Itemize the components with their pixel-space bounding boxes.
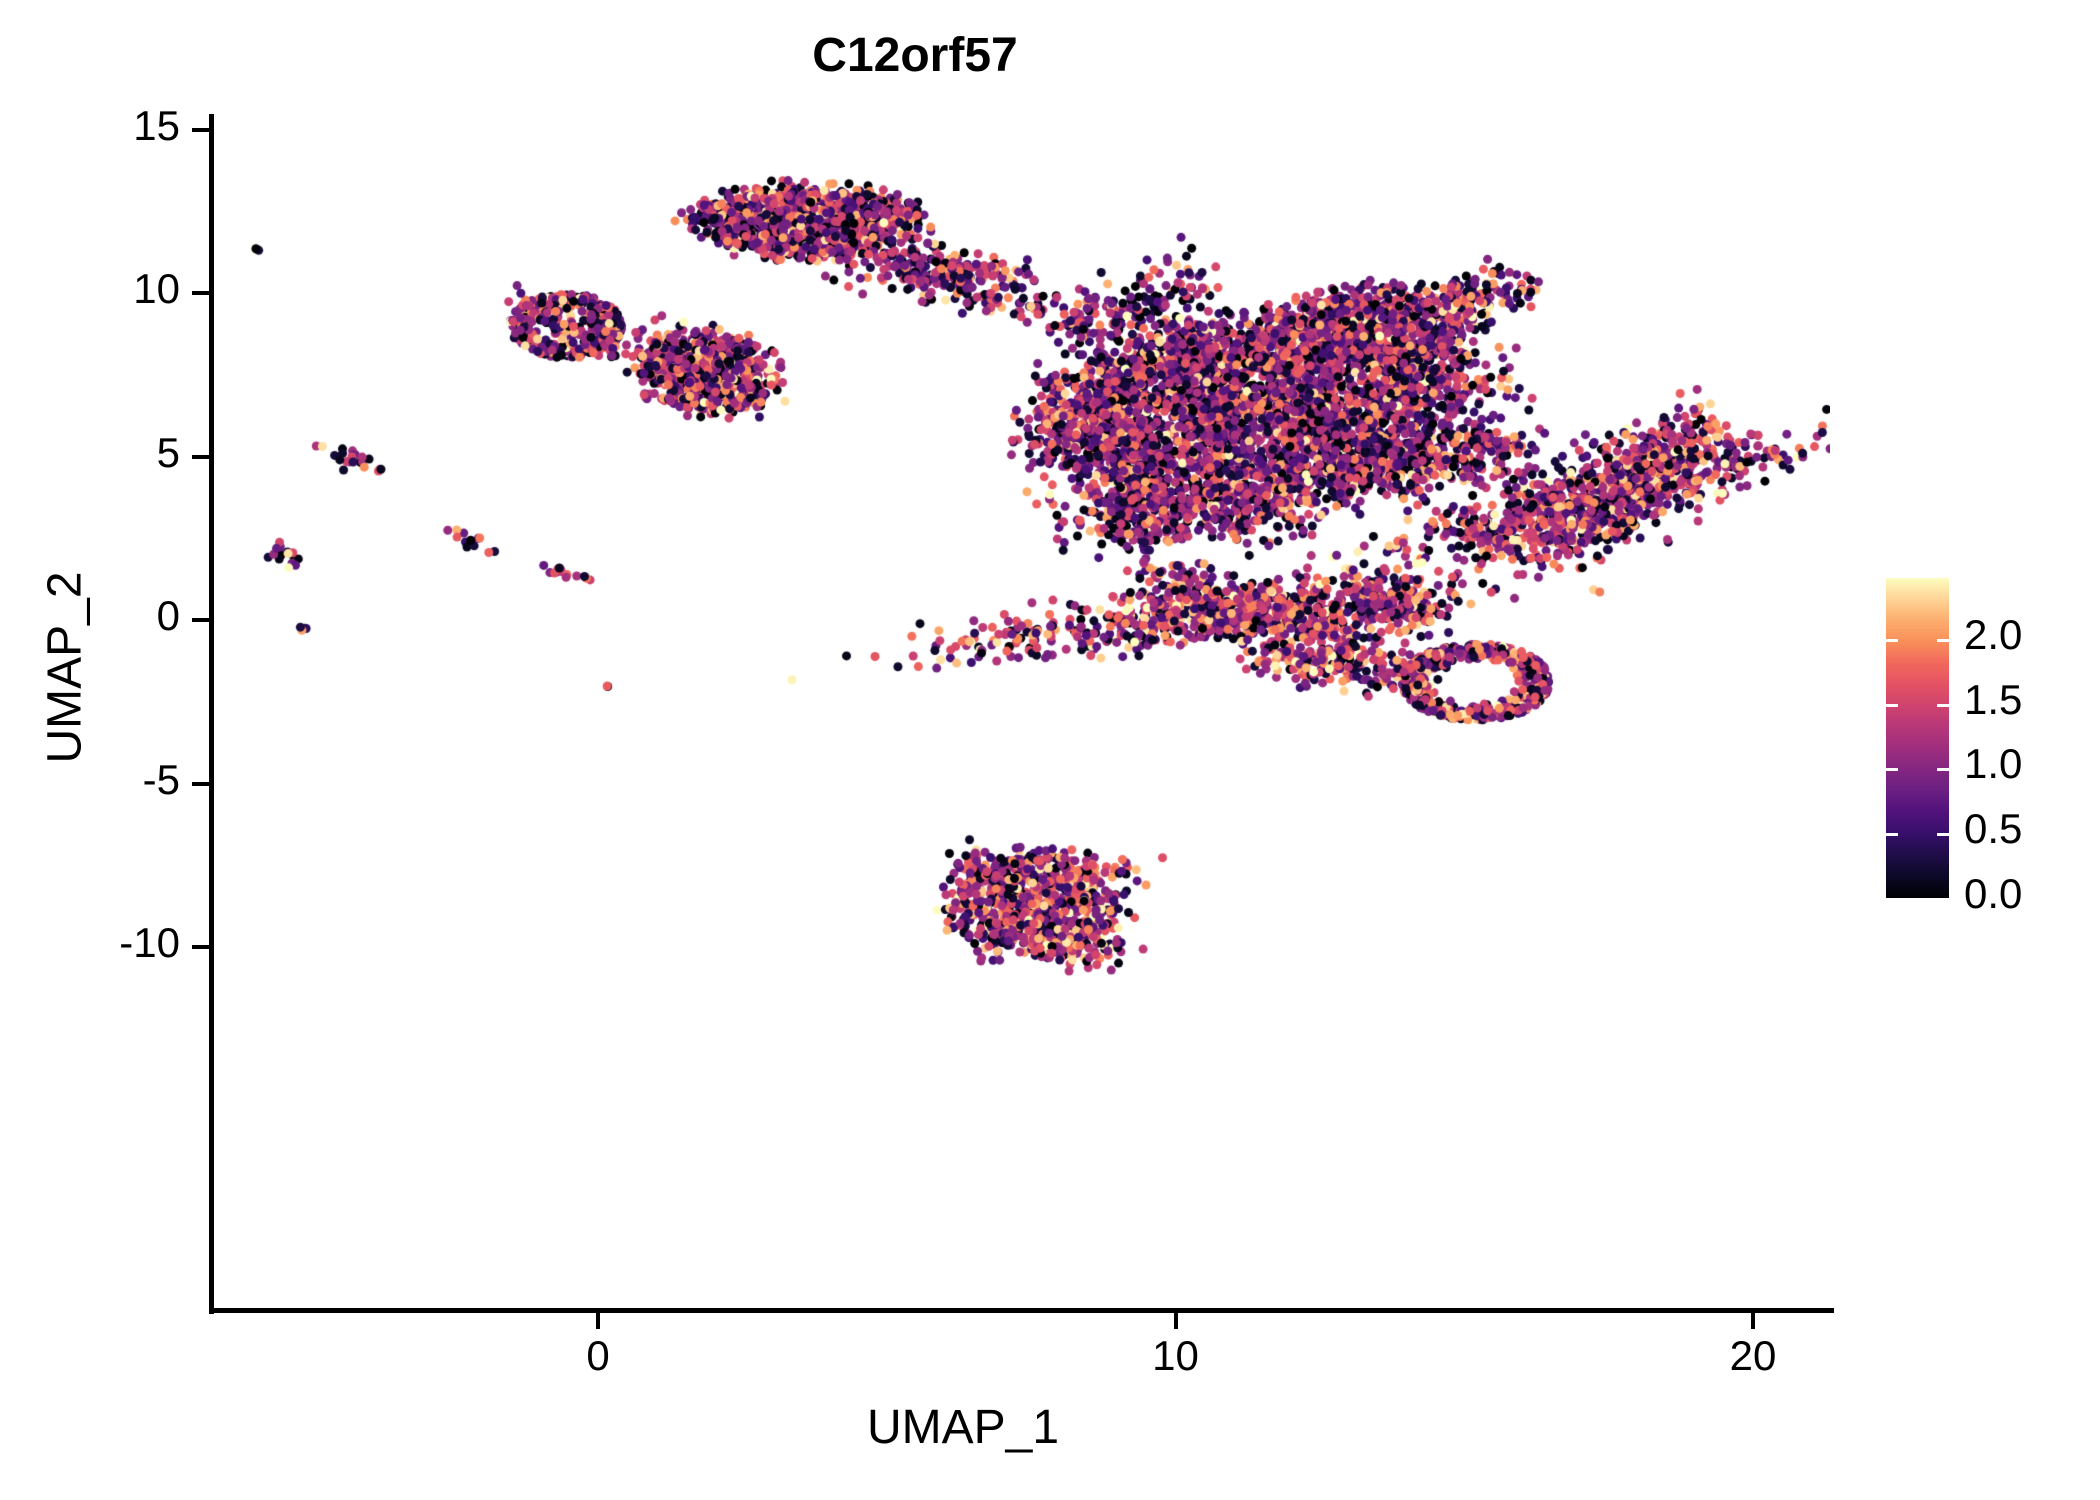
- colorbar-legend: 2.01.51.00.50.0: [1886, 578, 2086, 908]
- y-tick--10: [192, 945, 209, 949]
- x-tick-0: [596, 1312, 600, 1329]
- colorbar-tick-0.5: [1937, 833, 1949, 836]
- x-axis-line: [209, 1308, 1834, 1313]
- x-tick-20: [1751, 1312, 1755, 1329]
- y-tick-5: [192, 455, 209, 459]
- colorbar-tick-1: [1886, 768, 1898, 771]
- x-tick-label-0: 0: [538, 1332, 658, 1380]
- y-axis-title: UMAP_2: [38, 498, 93, 838]
- colorbar-tick-0: [1937, 898, 1949, 901]
- colorbar-tick-1: [1937, 768, 1949, 771]
- plot-panel: [213, 118, 1830, 1311]
- y-tick-label-5: 5: [20, 429, 180, 477]
- colorbar-label-1.5: 1.5: [1964, 676, 2022, 724]
- x-axis-title: UMAP_1: [763, 1400, 1163, 1455]
- colorbar-tick-1.5: [1886, 704, 1898, 707]
- y-tick-10: [192, 291, 209, 295]
- page-title: C12orf57: [0, 28, 1830, 83]
- colorbar-gradient: [1886, 578, 1949, 898]
- umap-feature-plot: C12orf57 151050-5-10 01020 UMAP_1 UMAP_2…: [0, 0, 2100, 1500]
- y-tick-0: [192, 618, 209, 622]
- x-tick-label-20: 20: [1693, 1332, 1813, 1380]
- colorbar-label-0: 0.0: [1964, 870, 2022, 918]
- colorbar-label-0.5: 0.5: [1964, 805, 2022, 853]
- colorbar-tick-0.5: [1886, 833, 1898, 836]
- x-tick-label-10: 10: [1116, 1332, 1236, 1380]
- colorbar-label-2: 2.0: [1964, 611, 2022, 659]
- y-axis-line: [209, 114, 214, 1314]
- colorbar-tick-2: [1937, 639, 1949, 642]
- colorbar-tick-1.5: [1937, 704, 1949, 707]
- y-tick-label-15: 15: [20, 102, 180, 150]
- y-tick-label-10: 10: [20, 265, 180, 313]
- scatter-canvas: [213, 118, 1830, 1311]
- y-tick--5: [192, 782, 209, 786]
- colorbar-tick-2: [1886, 639, 1898, 642]
- y-tick-label--10: -10: [20, 919, 180, 967]
- x-tick-10: [1174, 1312, 1178, 1329]
- colorbar-tick-0: [1886, 898, 1898, 901]
- y-tick-15: [192, 128, 209, 132]
- colorbar-label-1: 1.0: [1964, 740, 2022, 788]
